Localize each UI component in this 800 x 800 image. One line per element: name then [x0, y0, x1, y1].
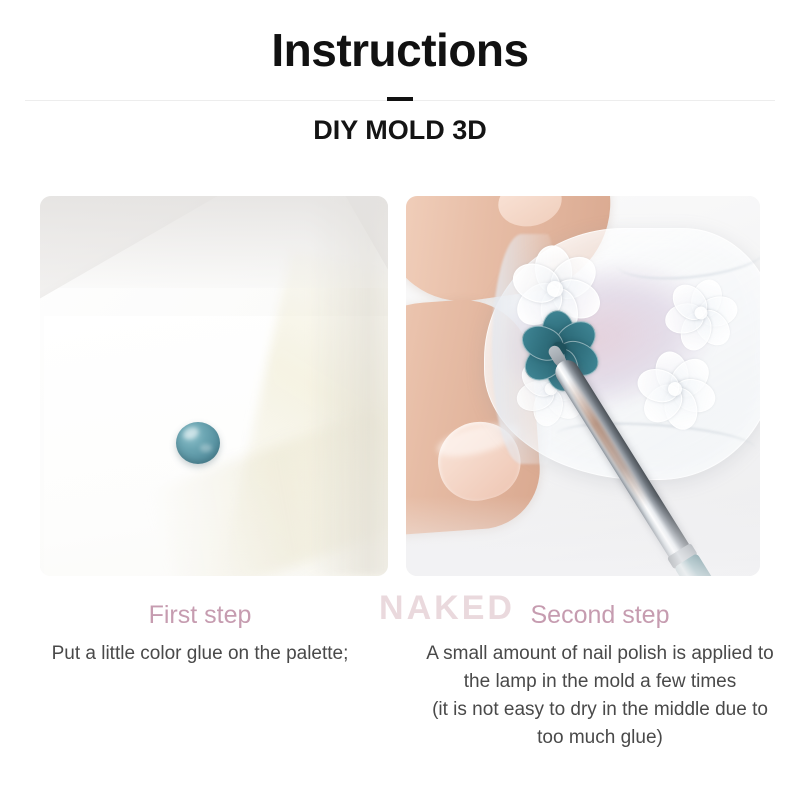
second-step-body: A small amount of nail polish is applied…: [406, 640, 794, 752]
bottom-fade: [406, 496, 760, 576]
caption-second-step: Second step A small amount of nail polis…: [400, 600, 800, 752]
second-step-line-1: A small amount of nail polish is applied…: [406, 640, 794, 668]
glue-drop-highlight-secondary: [200, 444, 212, 452]
header-divider: [0, 84, 800, 110]
background-top-shade: [40, 196, 388, 288]
second-step-title: Second step: [406, 600, 794, 630]
divider-center-mark: [387, 97, 413, 101]
second-step-line-2: the lamp in the mold a few times: [406, 668, 794, 696]
first-step-illustration: [40, 196, 388, 576]
step-image-second: [406, 196, 760, 576]
first-step-title: First step: [14, 600, 386, 630]
caption-first-step: First step Put a little color glue on th…: [0, 600, 400, 752]
step-captions: First step Put a little color glue on th…: [0, 600, 800, 752]
second-step-line-4: too much glue): [406, 724, 794, 752]
step-images: NAKED: [0, 196, 800, 576]
first-step-body: Put a little color glue on the palette;: [14, 640, 386, 668]
page-title: Instructions: [0, 26, 800, 74]
second-step-illustration: [406, 196, 760, 576]
page-subtitle: DIY MOLD 3D: [0, 116, 800, 146]
page-header: Instructions DIY MOLD 3D: [0, 0, 800, 146]
second-step-line-3: (it is not easy to dry in the middle due…: [406, 696, 794, 724]
step-image-first: [40, 196, 388, 576]
glue-drop: [176, 422, 220, 464]
first-step-line-1: Put a little color glue on the palette;: [14, 640, 386, 668]
glue-drop-highlight: [181, 425, 200, 442]
